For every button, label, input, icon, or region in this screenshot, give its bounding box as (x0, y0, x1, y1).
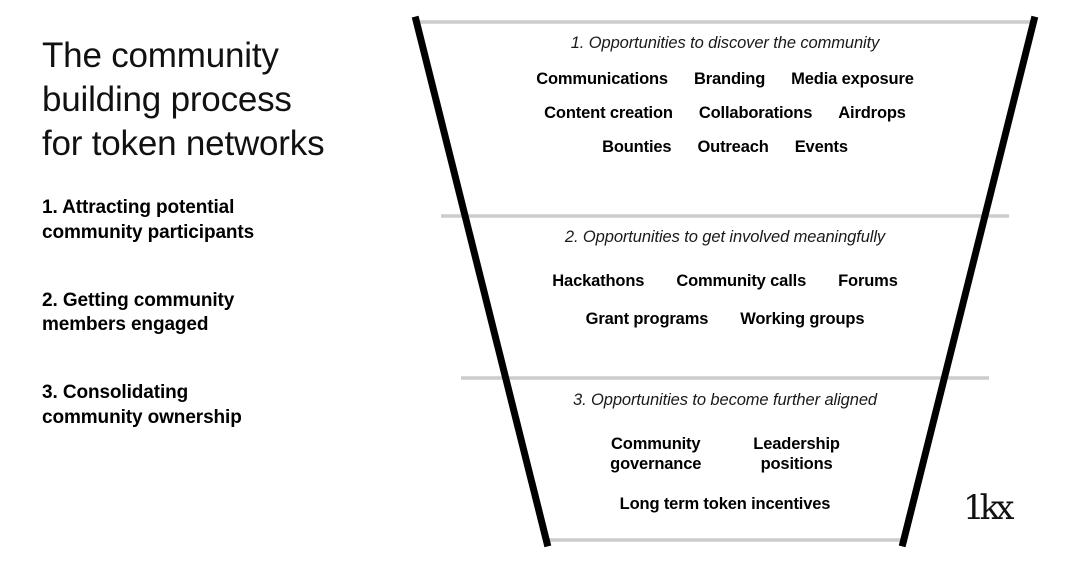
stage-item-1: 1. Attracting potential community partic… (42, 196, 402, 245)
slide-canvas: The community building process for token… (0, 0, 1080, 565)
funnel-item: Collaborations (699, 103, 812, 123)
funnel-item: Community calls (676, 271, 806, 291)
item-row: Hackathons Community calls Forums (405, 271, 1045, 291)
funnel-section-2-heading: 2. Opportunities to get involved meaning… (405, 228, 1045, 247)
item-row: Grant programs Working groups (405, 309, 1045, 329)
funnel-item: Grant programs (586, 309, 709, 329)
item-row: Content creation Collaborations Airdrops (405, 103, 1045, 123)
stage-item-3: 3. Consolidating community ownership (42, 381, 402, 430)
item-row: Long term token incentives (405, 494, 1045, 514)
funnel-item: Leadership positions (753, 434, 840, 474)
brand-logo: 1kx (963, 488, 1009, 528)
funnel-item: Community governance (610, 434, 701, 474)
page-title: The community building process for token… (42, 34, 402, 166)
item-row: Bounties Outreach Events (405, 137, 1045, 157)
funnel-section-2-items: Hackathons Community calls Forums Grant … (405, 271, 1045, 329)
stage-list: 1. Attracting potential community partic… (42, 196, 402, 430)
funnel-item: Outreach (697, 137, 768, 157)
funnel-item: Branding (694, 69, 765, 89)
funnel-item: Long term token incentives (620, 494, 831, 514)
funnel-item: Airdrops (838, 103, 906, 123)
funnel-item: Communications (536, 69, 668, 89)
funnel-section-1-heading: 1. Opportunities to discover the communi… (405, 34, 1045, 53)
funnel-item: Bounties (602, 137, 671, 157)
stage-item-2: 2. Getting community members engaged (42, 289, 402, 338)
funnel-item: Working groups (740, 309, 864, 329)
funnel-item: Media exposure (791, 69, 914, 89)
funnel-section-1-items: Communications Branding Media exposure C… (405, 69, 1045, 157)
funnel-diagram: 1. Opportunities to discover the communi… (405, 12, 1045, 557)
funnel-sections: 1. Opportunities to discover the communi… (405, 12, 1045, 557)
funnel-item: Events (795, 137, 848, 157)
funnel-item: Content creation (544, 103, 673, 123)
funnel-section-3: 3. Opportunities to become further align… (405, 391, 1045, 534)
funnel-item: Hackathons (552, 271, 644, 291)
funnel-item: Forums (838, 271, 898, 291)
item-row: Communications Branding Media exposure (405, 69, 1045, 89)
funnel-section-1: 1. Opportunities to discover the communi… (405, 34, 1045, 171)
item-row: Community governance Leadership position… (405, 434, 1045, 474)
left-column: The community building process for token… (42, 34, 402, 430)
funnel-section-3-items: Community governance Leadership position… (405, 434, 1045, 514)
funnel-section-3-heading: 3. Opportunities to become further align… (405, 391, 1045, 410)
funnel-section-2: 2. Opportunities to get involved meaning… (405, 228, 1045, 347)
